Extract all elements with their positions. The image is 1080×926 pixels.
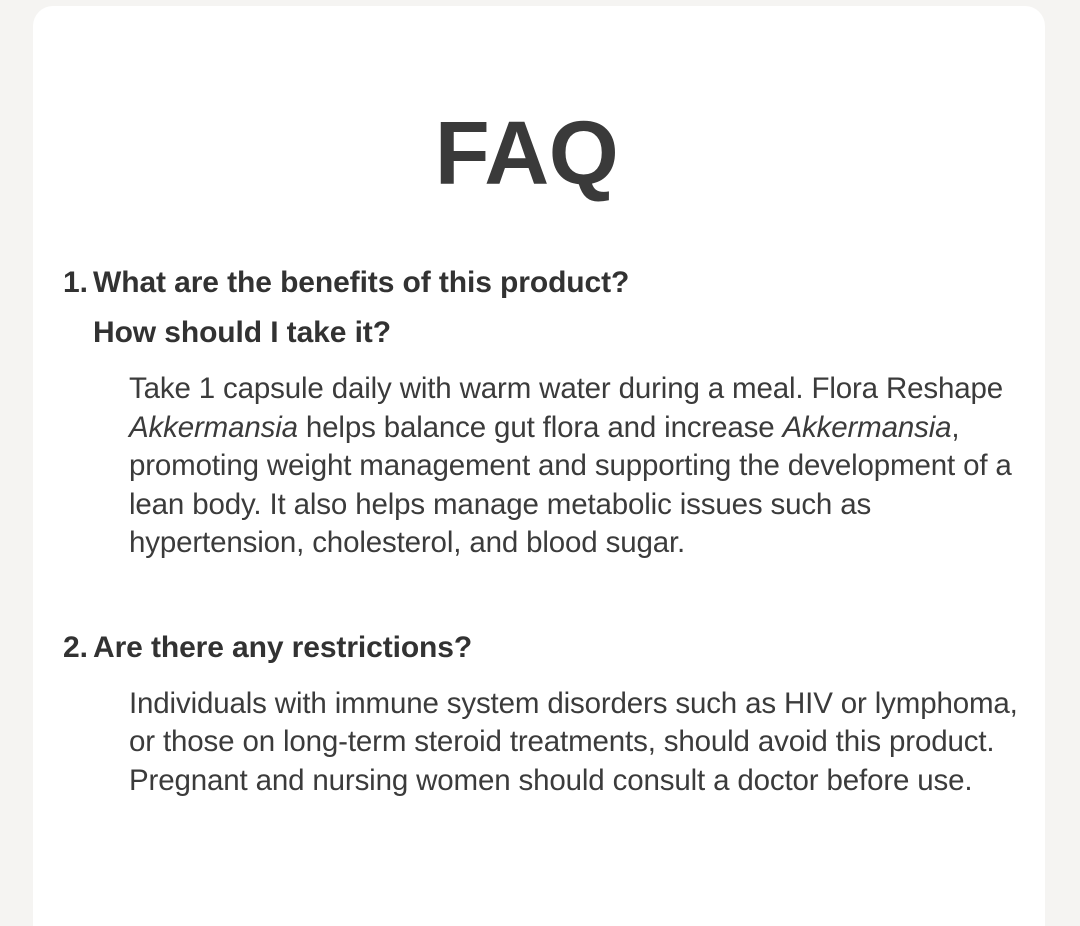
faq-question-row[interactable]: 1. What are the benefits of this product… bbox=[63, 258, 1022, 358]
faq-question: Are there any restrictions? bbox=[93, 623, 1022, 673]
faq-question: What are the benefits of this product?Ho… bbox=[93, 258, 1022, 358]
faq-answer: Individuals with immune system disorders… bbox=[63, 685, 1022, 801]
faq-answer-text-2: helps balance gut flora and increase bbox=[298, 411, 783, 444]
faq-item: 1. What are the benefits of this product… bbox=[63, 258, 1022, 563]
faq-answer-italic-2: Akkermansia bbox=[783, 411, 952, 444]
faq-card: FAQ 1. What are the benefits of this pro… bbox=[33, 6, 1045, 926]
page-title: FAQ bbox=[33, 109, 1020, 199]
faq-question-row[interactable]: 2. Are there any restrictions? bbox=[63, 623, 1022, 673]
faq-answer: Take 1 capsule daily with warm water dur… bbox=[63, 370, 1022, 563]
faq-answer-italic-1: Akkermansia bbox=[129, 411, 298, 444]
faq-answer-text-1: Take 1 capsule daily with warm water dur… bbox=[129, 372, 1003, 405]
faq-item-number: 2. bbox=[63, 623, 93, 673]
faq-question-line-2: How should I take it? bbox=[93, 316, 391, 349]
faq-item-number: 1. bbox=[63, 258, 93, 308]
faq-list: 1. What are the benefits of this product… bbox=[63, 258, 1022, 800]
faq-question-line-1: What are the benefits of this product? bbox=[93, 266, 629, 299]
faq-item: 2. Are there any restrictions? Individua… bbox=[63, 623, 1022, 801]
